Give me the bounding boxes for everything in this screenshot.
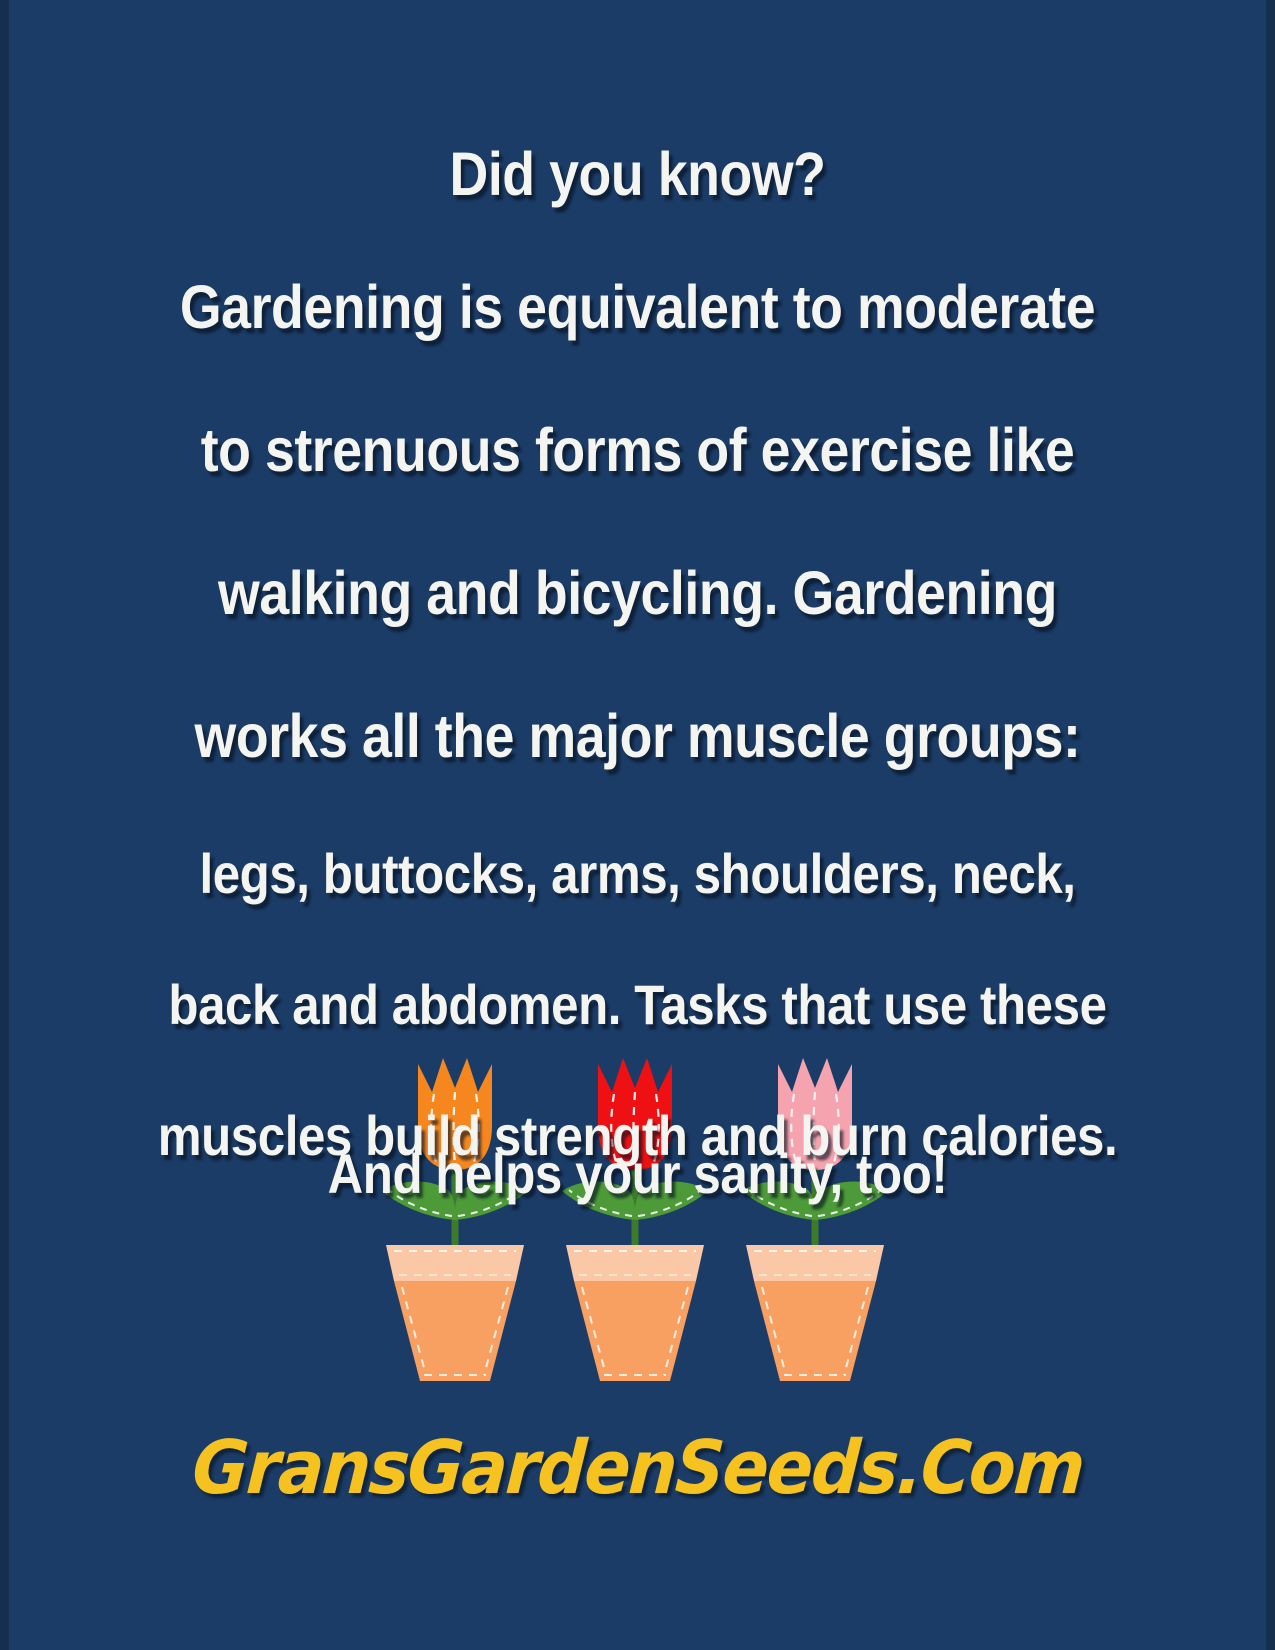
poster-text-block: Did you know? Gardening is equivalent to…	[0, 112, 1275, 1201]
body-line-2: to strenuous forms of exercise like	[77, 379, 1199, 522]
headline: Did you know?	[77, 112, 1199, 236]
detail-line-1: legs, buttocks, arms, shoulders, neck,	[77, 808, 1199, 939]
body-line-1: Gardening is equivalent to moderate	[77, 236, 1199, 379]
closing-line: And helps your sanity, too!	[77, 1108, 1199, 1239]
body-line-3: walking and bicycling. Gardening	[77, 522, 1199, 665]
website-label[interactable]: GransGardenSeeds.Com	[189, 1425, 1085, 1511]
website-wordmark[interactable]: GransGardenSeeds.Com	[0, 1425, 1275, 1511]
closing-text-block: And helps your sanity, too!	[0, 1108, 1275, 1239]
poster-canvas: Did you know? Gardening is equivalent to…	[0, 0, 1275, 1650]
body-line-4: works all the major muscle groups:	[77, 665, 1199, 808]
detail-line-2: back and abdomen. Tasks that use these	[77, 939, 1199, 1070]
